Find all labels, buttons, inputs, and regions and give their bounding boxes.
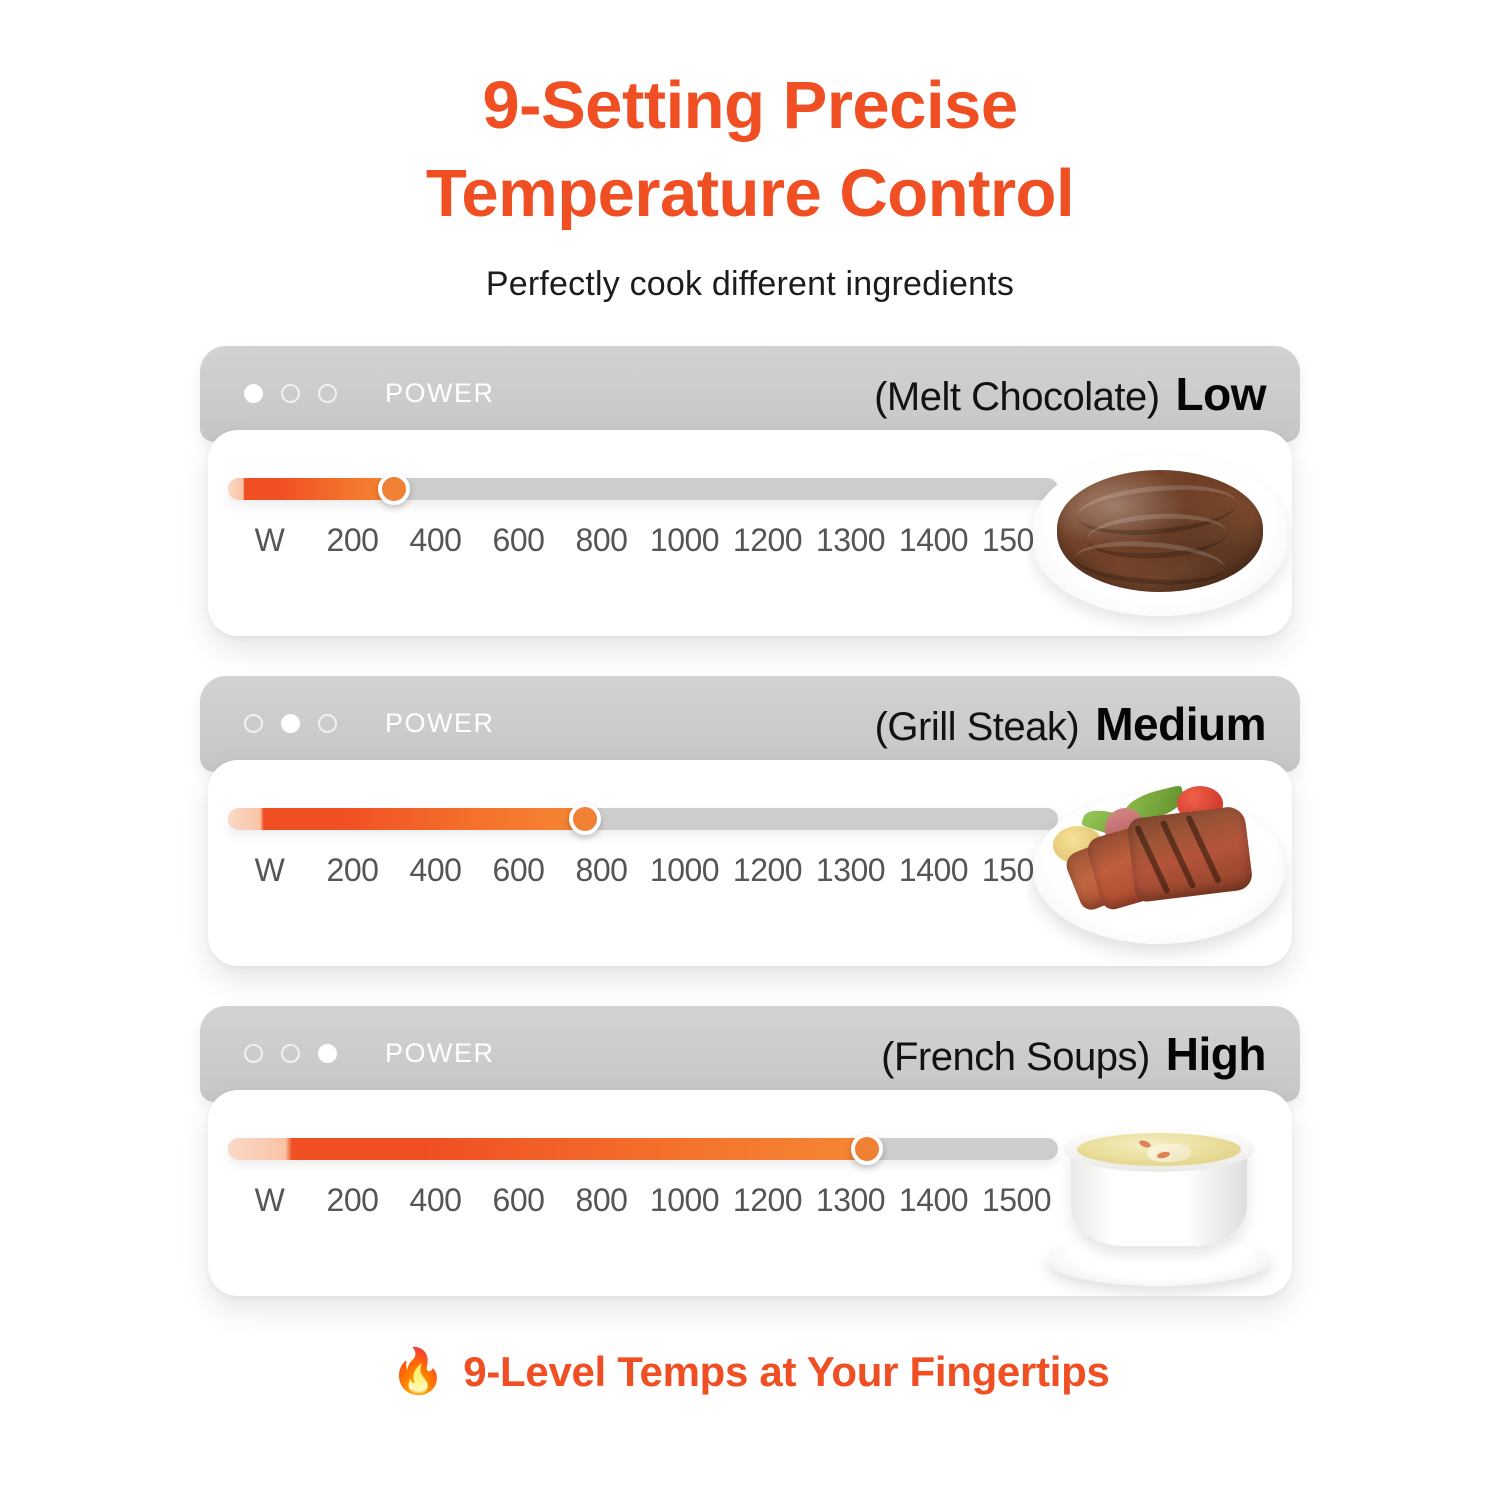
level-label-medium: Medium [1095,697,1266,751]
card-header-medium: POWER (Grill Steak) Medium [200,676,1300,772]
power-dot-1[interactable] [244,1044,263,1063]
slider-area-high: W 200 400 600 800 1000 1200 1300 1400 15… [228,1138,1058,1219]
tick-label: 600 [477,522,560,559]
dish-name-high: (French Soups) [881,1035,1150,1080]
tick-label: 1000 [643,522,726,559]
power-label-medium: POWER [385,708,495,739]
tick-label: 1300 [809,1182,892,1219]
slider-thumb-low[interactable] [378,473,410,505]
card-header-right-high: (French Soups) High [881,1027,1266,1081]
tick-label: W [228,852,311,889]
setting-card-medium: POWER (Grill Steak) Medium W 200 400 600… [200,676,1300,966]
page-title-line-2: Temperature Control [0,150,1500,238]
dish-name-medium: (Grill Steak) [875,705,1080,750]
power-dot-2[interactable] [281,714,300,733]
tick-label: 200 [311,522,394,559]
tick-label: 1400 [892,522,975,559]
slider-thumb-high[interactable] [851,1133,883,1165]
power-dot-3[interactable] [318,1044,337,1063]
card-header-low: POWER (Melt Chocolate) Low [200,346,1300,442]
melted-chocolate-image [1027,430,1292,636]
card-header-right-low: (Melt Chocolate) Low [874,367,1266,421]
setting-cards-list: POWER (Melt Chocolate) Low W 200 400 600… [0,346,1500,1296]
slider-ticks-low: W 200 400 600 800 1000 1200 1300 1400 15… [228,522,1058,559]
grilled-steak-image [1027,760,1292,966]
power-dot-1[interactable] [244,714,263,733]
power-dot-3[interactable] [318,714,337,733]
page-subtitle: Perfectly cook different ingredients [0,265,1500,304]
tick-label: 1000 [643,852,726,889]
power-slider-low[interactable] [228,478,1058,500]
power-slider-high[interactable] [228,1138,1058,1160]
tick-label: 800 [560,1182,643,1219]
flame-icon: 🔥 [390,1350,445,1394]
card-header-high: POWER (French Soups) High [200,1006,1300,1102]
power-label-high: POWER [385,1038,495,1069]
footer-text: 9-Level Temps at Your Fingertips [463,1348,1109,1396]
tick-label: 800 [560,852,643,889]
power-dot-2[interactable] [281,384,300,403]
slider-area-low: W 200 400 600 800 1000 1200 1300 1400 15… [228,478,1058,559]
tick-label: 1300 [809,852,892,889]
setting-card-low: POWER (Melt Chocolate) Low W 200 400 600… [200,346,1300,636]
tick-label: 1200 [726,1182,809,1219]
tick-label: 400 [394,1182,477,1219]
card-panel-high: W 200 400 600 800 1000 1200 1300 1400 15… [208,1090,1292,1296]
page-title: 9-Setting Precise Temperature Control [0,62,1500,239]
slider-area-medium: W 200 400 600 800 1000 1200 1300 1400 15… [228,808,1058,889]
tick-label: 1400 [892,1182,975,1219]
card-panel-medium: W 200 400 600 800 1000 1200 1300 1400 15… [208,760,1292,966]
power-dot-1[interactable] [244,384,263,403]
card-panel-low: W 200 400 600 800 1000 1200 1300 1400 15… [208,430,1292,636]
slider-ticks-medium: W 200 400 600 800 1000 1200 1300 1400 15… [228,852,1058,889]
page-title-line-1: 9-Setting Precise [0,62,1500,150]
card-header-right-medium: (Grill Steak) Medium [875,697,1266,751]
tick-label: 200 [311,852,394,889]
tick-label: 1000 [643,1182,726,1219]
setting-card-high: POWER (French Soups) High W 200 400 600 … [200,1006,1300,1296]
power-indicator-group-high: POWER [244,1038,495,1069]
power-slider-medium[interactable] [228,808,1058,830]
tick-label: 200 [311,1182,394,1219]
footer-banner: 🔥 9-Level Temps at Your Fingertips [0,1348,1500,1396]
tick-label: 1200 [726,852,809,889]
level-label-high: High [1166,1027,1266,1081]
slider-thumb-medium[interactable] [569,803,601,835]
tick-label: 600 [477,1182,560,1219]
power-indicator-group-low: POWER [244,378,495,409]
tick-label: W [228,522,311,559]
power-dot-2[interactable] [281,1044,300,1063]
dish-name-low: (Melt Chocolate) [874,375,1159,420]
power-indicator-group-medium: POWER [244,708,495,739]
slider-fill-low [228,478,394,500]
tick-label: 600 [477,852,560,889]
soup-bowl-image [1027,1090,1292,1296]
power-label-low: POWER [385,378,495,409]
tick-label: 400 [394,522,477,559]
page-header: 9-Setting Precise Temperature Control Pe… [0,0,1500,304]
tick-label: W [228,1182,311,1219]
power-dot-3[interactable] [318,384,337,403]
tick-label: 800 [560,522,643,559]
tick-label: 1200 [726,522,809,559]
slider-fill-medium [228,808,585,830]
tick-label: 1400 [892,852,975,889]
level-label-low: Low [1176,367,1266,421]
slider-ticks-high: W 200 400 600 800 1000 1200 1300 1400 15… [228,1182,1058,1219]
slider-fill-high [228,1138,867,1160]
tick-label: 400 [394,852,477,889]
tick-label: 1300 [809,522,892,559]
